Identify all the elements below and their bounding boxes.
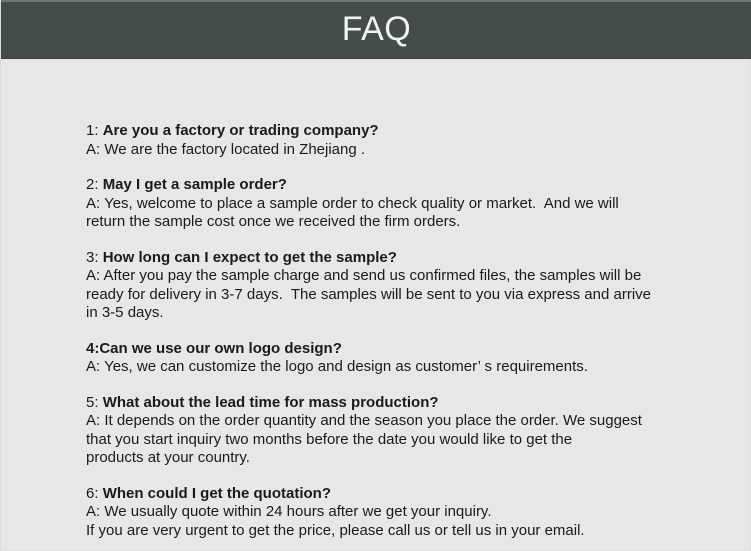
- faq-answer-line: A: After you pay the sample charge and s…: [86, 267, 666, 286]
- page-banner: FAQ: [1, 0, 751, 59]
- faq-answer-line: If you are very urgent to get the price,…: [86, 522, 666, 541]
- faq-answer-line: that you start inquiry two months before…: [86, 431, 666, 450]
- faq-item: 4:Can we use our own logo design?A: Yes,…: [86, 340, 666, 377]
- faq-question-line: 3: How long can I expect to get the samp…: [86, 249, 666, 268]
- faq-answer-line: A: Yes, we can customize the logo and de…: [86, 358, 666, 377]
- faq-item: 5: What about the lead time for mass pro…: [86, 394, 666, 468]
- faq-question-line: 1: Are you a factory or trading company?: [86, 122, 666, 141]
- faq-question-line: 6: When could I get the quotation?: [86, 485, 666, 504]
- faq-question-line: 2: May I get a sample order?: [86, 176, 666, 195]
- faq-question-line: 4:Can we use our own logo design?: [86, 340, 666, 359]
- page-title: FAQ: [342, 12, 412, 48]
- faq-answer-line: A: We are the factory located in Zhejian…: [86, 141, 666, 160]
- faq-answer-line: ready for delivery in 3-7 days. The samp…: [86, 286, 666, 305]
- faq-question-number: 5:: [86, 394, 103, 411]
- faq-answer-line: products at your country.: [86, 449, 666, 468]
- faq-question-number: 2:: [86, 176, 103, 193]
- faq-question-text: When could I get the quotation?: [103, 485, 331, 502]
- faq-answer-line: A: Yes, welcome to place a sample order …: [86, 195, 666, 214]
- faq-item: 6: When could I get the quotation?A: We …: [86, 485, 666, 541]
- faq-answer-line: in 3-5 days.: [86, 304, 666, 323]
- faq-answer-line: A: We usually quote within 24 hours afte…: [86, 503, 666, 522]
- faq-list: 1: Are you a factory or trading company?…: [86, 122, 666, 540]
- faq-page: FAQ 1: Are you a factory or trading comp…: [0, 0, 751, 551]
- faq-item: 3: How long can I expect to get the samp…: [86, 249, 666, 323]
- faq-item: 2: May I get a sample order?A: Yes, welc…: [86, 176, 666, 232]
- faq-question-number: 1:: [86, 122, 103, 139]
- faq-question-text: What about the lead time for mass produc…: [103, 394, 439, 411]
- faq-question-number: 3:: [86, 249, 103, 266]
- faq-question-number: 4:: [86, 340, 99, 357]
- faq-question-text: How long can I expect to get the sample?: [103, 249, 397, 266]
- faq-item: 1: Are you a factory or trading company?…: [86, 122, 666, 159]
- faq-question-number: 6:: [86, 485, 103, 502]
- faq-answer-line: return the sample cost once we received …: [86, 213, 666, 232]
- faq-answer-line: A: It depends on the order quantity and …: [86, 412, 666, 431]
- faq-question-text: Are you a factory or trading company?: [103, 122, 379, 139]
- faq-question-line: 5: What about the lead time for mass pro…: [86, 394, 666, 413]
- faq-question-text: May I get a sample order?: [103, 176, 287, 193]
- faq-question-text: Can we use our own logo design?: [99, 340, 342, 357]
